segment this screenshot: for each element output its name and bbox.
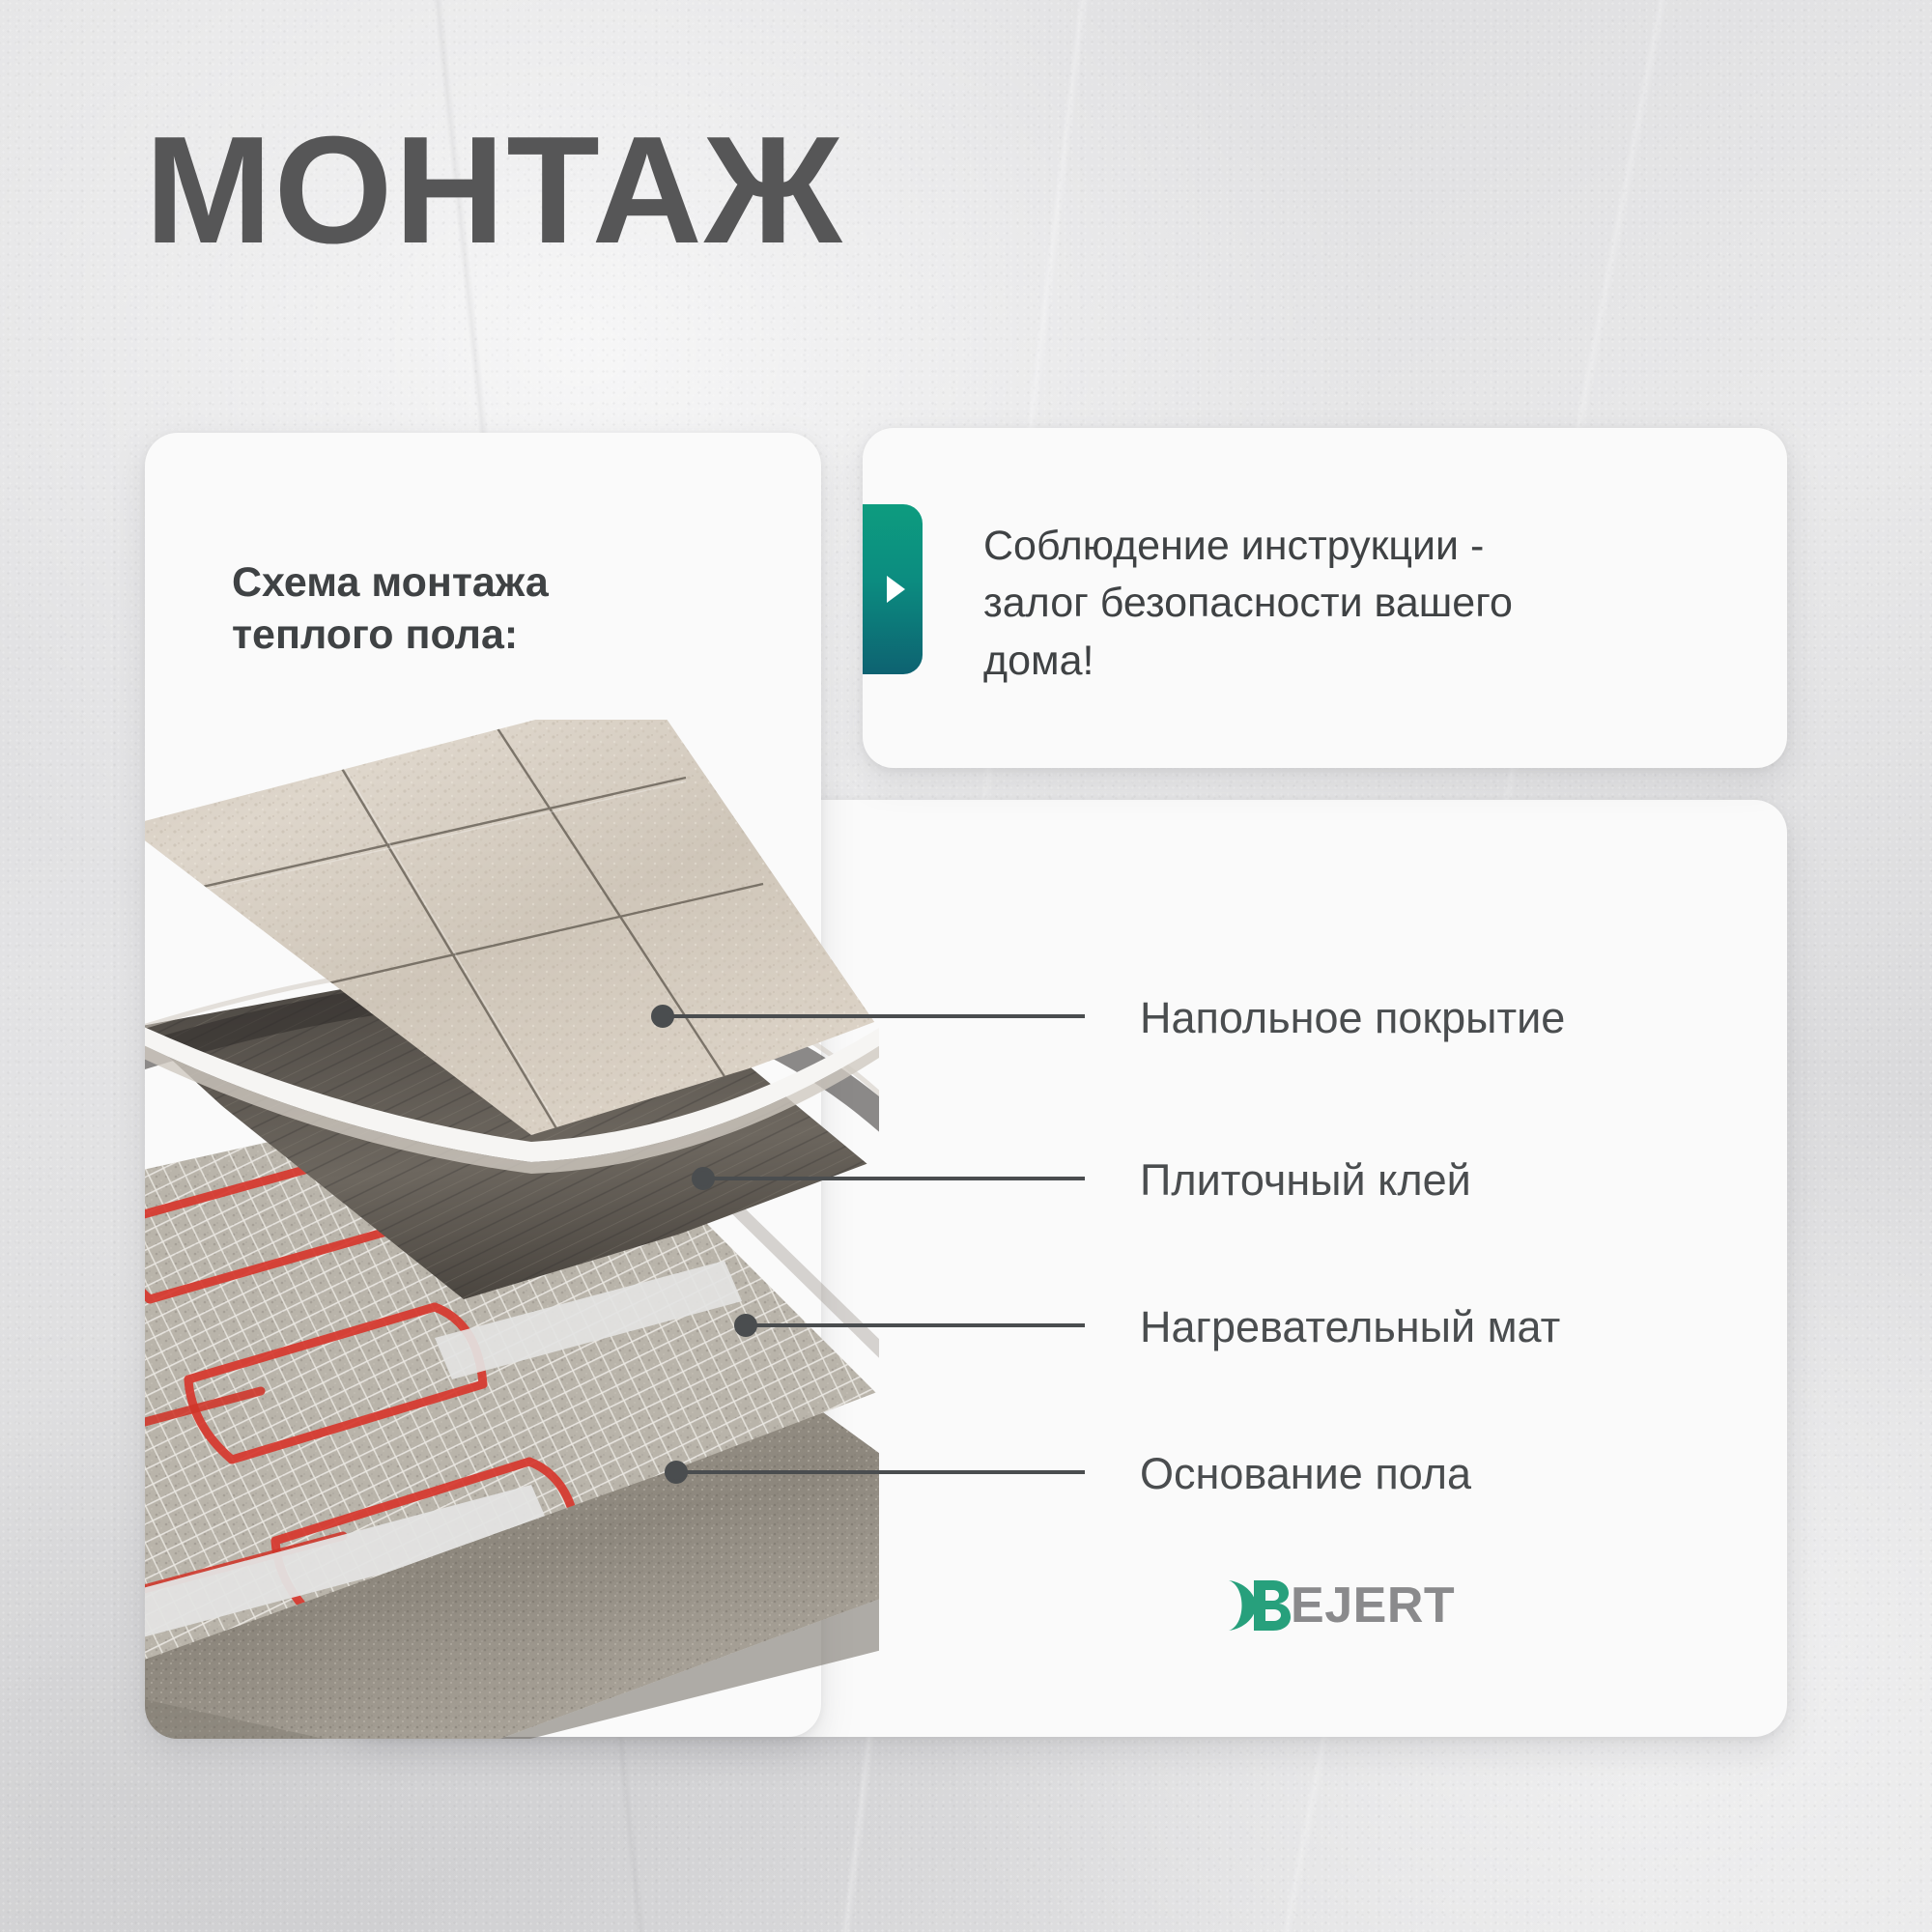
poster-canvas: МОНТАЖ Схема монтажа теплого пола: Соблю… [0,0,1932,1932]
scheme-heading: Схема монтажа теплого пола: [232,556,734,661]
layer-label-heating-mat: Нагревательный мат [1140,1302,1560,1352]
layer-label-floor-covering: Напольное покрытие [1140,993,1565,1043]
layer-label-tile-adhesive: Плиточный клей [1140,1155,1471,1206]
note-accent-tab [863,504,923,674]
safety-note-text: Соблюдение инструкции - залог безопаснос… [983,518,1737,690]
bejert-logo: EJERT [1225,1577,1455,1634]
bejert-wordmark: EJERT [1291,1577,1455,1634]
page-title: МОНТАЖ [145,114,843,267]
bejert-b-mark-icon [1225,1577,1294,1634]
play-triangle-icon [887,576,905,603]
floor-layers-illustration [145,720,879,1739]
layer-label-floor-base: Основание пола [1140,1449,1471,1499]
